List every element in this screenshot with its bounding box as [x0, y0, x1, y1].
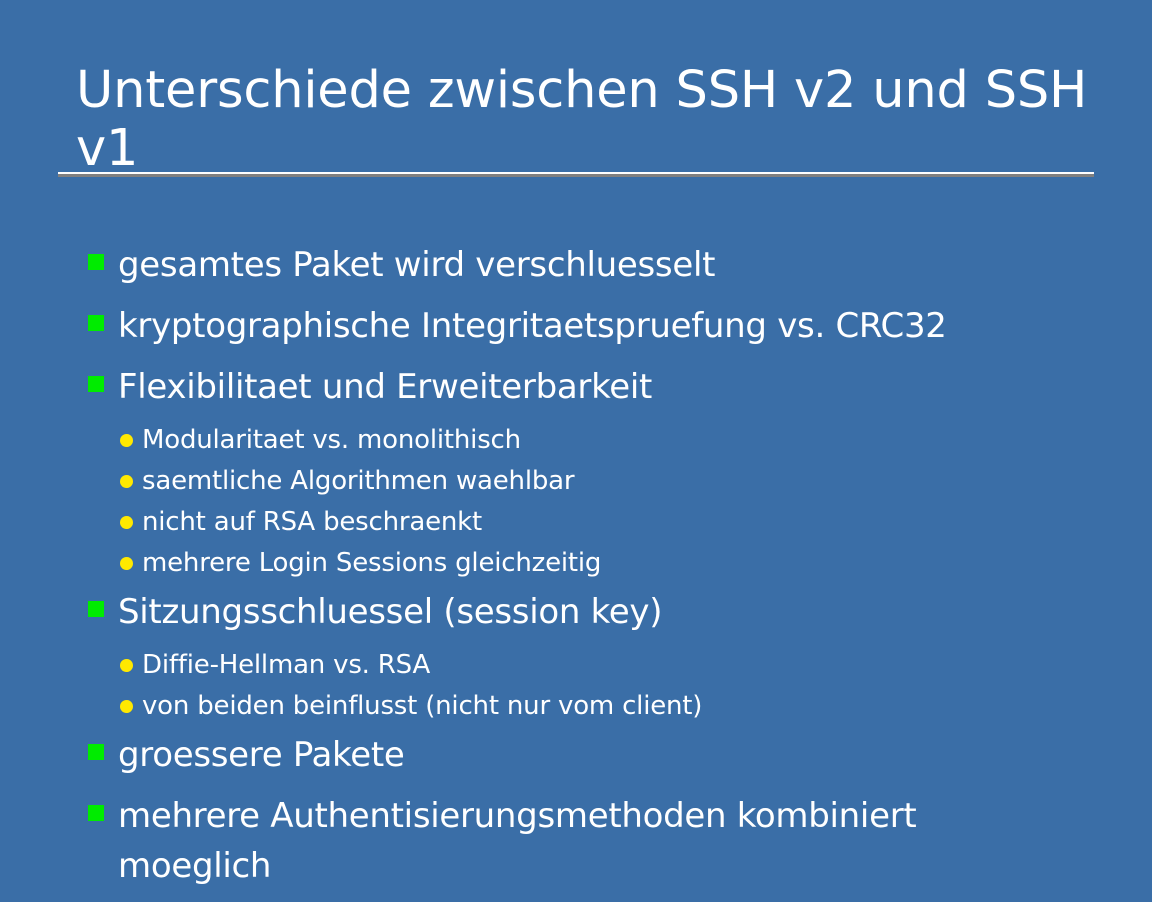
square-bullet-icon [88, 376, 104, 392]
list-item: Flexibilitaet und Erweiterbarkeit [88, 362, 1088, 412]
sub-list-item: saemtliche Algorithmen waehlbar [120, 464, 1088, 499]
sub-list-item-label: Diffie-Hellman vs. RSA [142, 648, 430, 683]
circle-bullet-icon [120, 659, 133, 672]
sub-list-item: mehrere Login Sessions gleichzeitig [120, 546, 1088, 581]
list-item: gesamtes Paket wird verschluesselt [88, 240, 1088, 290]
sub-list-item: nicht auf RSA beschraenkt [120, 505, 1088, 540]
list-item: groessere Pakete [88, 730, 1088, 780]
sub-list: Diffie-Hellman vs. RSA von beiden beinfl… [88, 648, 1088, 724]
sub-list-item: Modularitaet vs. monolithisch [120, 423, 1088, 458]
sub-list-item-label: mehrere Login Sessions gleichzeitig [142, 546, 601, 581]
square-bullet-icon [88, 601, 104, 617]
sub-list: Modularitaet vs. monolithisch saemtliche… [88, 423, 1088, 581]
slide-title-block: Unterschiede zwischen SSH v2 und SSH v1 [76, 62, 1096, 178]
sub-list-item: Diffie-Hellman vs. RSA [120, 648, 1088, 683]
list-item-label: Sitzungsschluessel (session key) [118, 587, 662, 637]
square-bullet-icon [88, 805, 104, 821]
square-bullet-icon [88, 315, 104, 331]
list-item: kryptographische Integritaetspruefung vs… [88, 301, 1088, 351]
page-title: Unterschiede zwischen SSH v2 und SSH v1 [76, 62, 1096, 178]
list-item-label: mehrere Authentisierungsmethoden kombini… [118, 791, 1058, 891]
title-divider [58, 172, 1094, 177]
circle-bullet-icon [120, 700, 133, 713]
sub-list-item-label: nicht auf RSA beschraenkt [142, 505, 482, 540]
circle-bullet-icon [120, 475, 133, 488]
circle-bullet-icon [120, 557, 133, 570]
list-item-label: kryptographische Integritaetspruefung vs… [118, 301, 947, 351]
list-item: Sitzungsschluessel (session key) [88, 587, 1088, 637]
sub-list-item-label: Modularitaet vs. monolithisch [142, 423, 521, 458]
sub-list-item-label: saemtliche Algorithmen waehlbar [142, 464, 574, 499]
sub-list-item: von beiden beinflusst (nicht nur vom cli… [120, 689, 1088, 724]
bullet-list: gesamtes Paket wird verschluesselt krypt… [88, 240, 1088, 902]
circle-bullet-icon [120, 516, 133, 529]
list-item-label: gesamtes Paket wird verschluesselt [118, 240, 715, 290]
list-item-label: groessere Pakete [118, 730, 405, 780]
square-bullet-icon [88, 744, 104, 760]
list-item-label: Flexibilitaet und Erweiterbarkeit [118, 362, 652, 412]
presentation-slide: Unterschiede zwischen SSH v2 und SSH v1 … [0, 0, 1152, 900]
title-divider-line [58, 174, 1094, 177]
list-item: mehrere Authentisierungsmethoden kombini… [88, 791, 1088, 891]
circle-bullet-icon [120, 434, 133, 447]
square-bullet-icon [88, 254, 104, 270]
sub-list-item-label: von beiden beinflusst (nicht nur vom cli… [142, 689, 702, 724]
